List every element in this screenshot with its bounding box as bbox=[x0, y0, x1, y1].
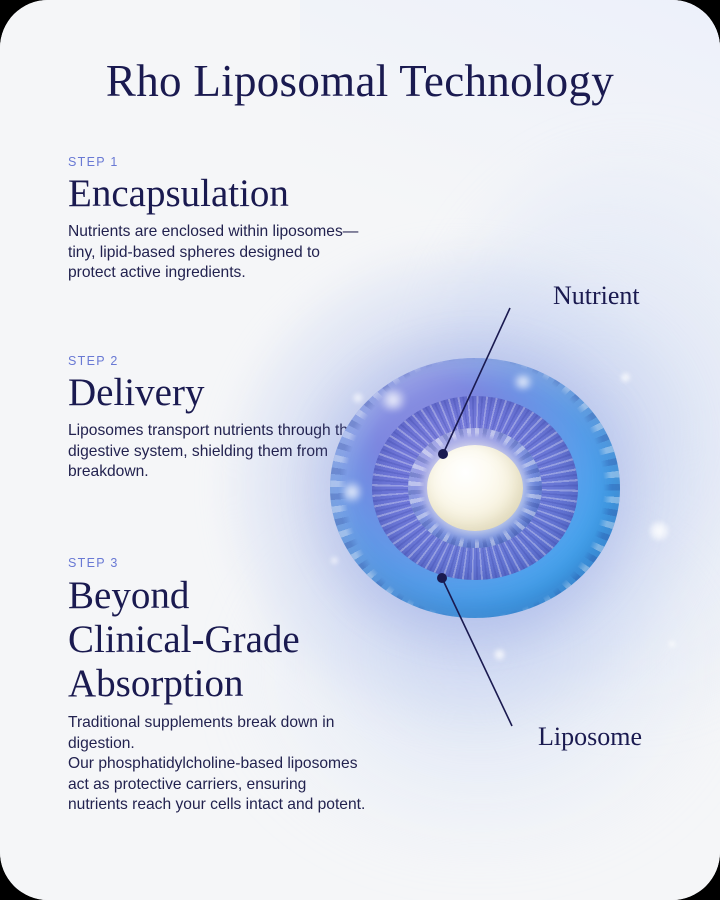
step-heading: Beyond Clinical-Grade Absorption bbox=[68, 574, 368, 706]
liposome-diagram bbox=[330, 358, 620, 618]
page-title: Rho Liposomal Technology bbox=[0, 56, 720, 108]
step-body: Traditional supplements break down in di… bbox=[68, 713, 368, 816]
bokeh-dot bbox=[668, 640, 676, 648]
step-eyebrow: STEP 1 bbox=[68, 155, 368, 169]
step-block-3: STEP 3 Beyond Clinical-Grade Absorption … bbox=[68, 556, 368, 816]
bokeh-dot bbox=[493, 648, 506, 661]
bokeh-dot bbox=[620, 372, 631, 383]
bokeh-dot bbox=[648, 520, 670, 542]
specular-highlight bbox=[342, 478, 362, 506]
callout-label-liposome: Liposome bbox=[538, 722, 642, 752]
step-body: Nutrients are enclosed within liposomes—… bbox=[68, 222, 368, 284]
infographic-card: Rho Liposomal Technology STEP 1 Encapsul… bbox=[0, 0, 720, 900]
nutrient-core bbox=[427, 445, 523, 531]
step-heading: Delivery bbox=[68, 372, 368, 414]
callout-label-nutrient: Nutrient bbox=[553, 281, 640, 311]
step-eyebrow: STEP 2 bbox=[68, 354, 368, 368]
step-block-1: STEP 1 Encapsulation Nutrients are enclo… bbox=[68, 155, 368, 284]
specular-highlight bbox=[510, 374, 536, 390]
step-heading: Encapsulation bbox=[68, 173, 368, 215]
